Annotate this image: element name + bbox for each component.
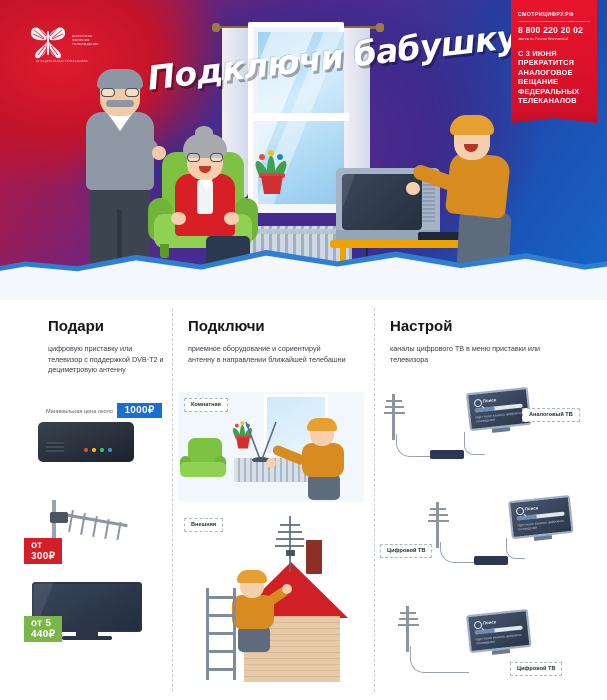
house-chimney [306,540,322,574]
steps-section: Подари цифровую приставку или телевизор … [0,300,607,700]
tv-menu-subtitle: Идет поиск каналов цифрового телевидения [475,410,524,424]
ladder [206,588,236,680]
man-hand [282,584,292,594]
banner-note: звонок по России бесплатный [518,37,590,42]
price-item-set-top-box: Минимальная цена около 1000₽ [24,400,162,418]
hdmi-cable [464,432,485,455]
grandma-hand [171,212,186,225]
set-top-box-icon [430,450,464,459]
step-heading: Подключи [188,318,368,335]
antenna-element [399,618,418,620]
tv-menu-title: Поиск [483,395,522,404]
step-column-nastroy: Настрой каналы цифрового ТВ в меню прист… [390,300,590,365]
man-hair [307,418,337,431]
price-label: Минимальная цена около [46,409,113,415]
man-legs [308,474,340,500]
grandma-hand [224,212,239,225]
antenna-amplifier-box [50,512,68,523]
television-foot [492,427,510,433]
step-column-podkluchi: Подключи приемное оборудование и сориент… [188,300,368,365]
banner-divider [518,21,590,22]
step-heading: Настрой [390,318,590,335]
plant-flower [259,154,265,160]
magnifier-icon [474,399,483,408]
price-badge: от 300₽ [24,538,62,564]
tv-search-menu: Поиск Идет поиск каналов цифрового телев… [474,617,524,646]
grandpa-moustache [106,100,134,107]
logo-name: ЦИФРОВОЕ ЭФИРНОЕ ТЕЛЕВИДЕНИЕ [72,34,116,47]
man-hair [237,570,267,583]
television-icon: Поиск Идет поиск каналов цифрового телев… [466,609,532,657]
antenna-element [428,520,449,522]
tv-menu-subtitle: Идет поиск каналов цифрового телевидения [517,518,566,532]
step-description: цифровую приставку или телевизор с подде… [48,344,168,376]
butterfly-logo-icon [28,22,68,62]
setup-row-digital-1: Поиск Идет поиск каналов цифрового телев… [382,496,602,596]
outdoor-antenna-scene [178,510,364,686]
armchair-leg [160,244,169,258]
man-body [302,443,344,477]
antenna-element [430,508,446,510]
television-foot [492,649,510,655]
setup-row-analog: Поиск Идет поиск каналов цифрового телев… [382,388,602,488]
television-screen: Поиск Идет поиск каналов цифрового телев… [508,495,574,539]
column-divider [172,308,173,692]
television-foot [534,535,552,541]
tag-analog-tv: Аналоговый ТВ [522,408,580,422]
contact-banner: СМОТРИЦИФРУ.РФ 8 800 220 20 02 звонок по… [511,0,597,112]
scene-armchair [180,438,226,482]
grandpa-glasses-icon [100,88,140,97]
television-foot [62,636,112,640]
price-badge: 1000₽ [117,403,161,418]
young-man-hair [450,115,494,135]
tv-menu-title: Поиск [483,617,522,626]
antenna-element [400,612,416,614]
set-top-box-icon [474,556,508,565]
crt-speaker [423,180,435,222]
television-icon: Поиск Идет поиск каналов цифрового телев… [508,495,574,543]
grandma-glasses-icon [187,153,223,162]
step-description: каналы цифрового ТВ в меню приставки или… [390,344,580,365]
grandpa-legs [90,186,150,264]
antenna-element [385,406,404,408]
antenna-element [429,514,448,516]
infographic-poster: ЦИФРОВОЕ ЭФИРНОЕ ТЕЛЕВИДЕНИЕ 20 ФЕДЕРАЛЬ… [0,0,607,700]
hero-illustration: ЦИФРОВОЕ ЭФИРНОЕ ТЕЛЕВИДЕНИЕ 20 ФЕДЕРАЛЬ… [0,0,607,300]
man-legs [238,626,270,652]
antenna-element [398,624,419,626]
young-man-character [440,118,532,272]
outdoor-antenna-icon [264,516,304,572]
banner-website[interactable]: СМОТРИЦИФРУ.РФ [518,12,590,18]
grandpa-hair [97,69,143,89]
step-heading: Подари [48,318,170,335]
antenna-element [384,412,405,414]
tv-search-menu: Поиск Идет поиск каналов цифрового телев… [516,503,566,532]
man-hand [266,458,276,468]
step-description: приемное оборудование и сориентируй анте… [188,344,348,365]
armchair-seat [180,462,226,477]
setup-row-digital-2: Поиск Идет поиск каналов цифрового телев… [382,600,602,700]
antenna-cable [410,646,469,673]
logo-subtitle: 20 ФЕДЕРАЛЬНЫХ ТЕЛЕКАНАЛОВ [36,60,88,63]
plant-flower [268,150,274,156]
television-screen: Поиск Идет поиск каналов цифрового телев… [466,609,532,653]
plant-flower [277,154,283,160]
tv-menu-title: Поиск [525,503,564,512]
price-badge: от 5 440₽ [24,616,62,642]
window-crossbar [253,113,349,121]
rtrs-logo: ЦИФРОВОЕ ЭФИРНОЕ ТЕЛЕВИДЕНИЕ 20 ФЕДЕРАЛЬ… [28,22,114,66]
banner-phone[interactable]: 8 800 220 20 02 [518,25,590,35]
young-man-hand [406,182,420,195]
antenna-element [386,400,402,402]
banner-headline: С 3 ИЮНЯ ПРЕКРАТИТСЯ АНАЛОГОВОЕ ВЕЩАНИЕ … [518,49,590,105]
tag-outdoor-antenna: Внешняя [184,518,223,532]
step-column-podari: Подари цифровую приставку или телевизор … [24,300,170,376]
tag-digital-tv: Цифровой ТВ [380,544,432,558]
tag-indoor-antenna: Комнатная [184,398,228,412]
set-top-box-device [38,422,134,462]
magnifier-icon [474,621,483,630]
tv-search-menu: Поиск Идет поиск каналов цифрового телев… [474,395,524,424]
plant-pot [261,176,283,194]
tag-digital-tv: Цифровой ТВ [510,662,562,676]
scene-man [296,420,350,498]
magnifier-icon [516,507,525,516]
tv-menu-subtitle: Идет поиск каналов цифрового телевидения [475,632,524,646]
column-divider [374,308,375,692]
